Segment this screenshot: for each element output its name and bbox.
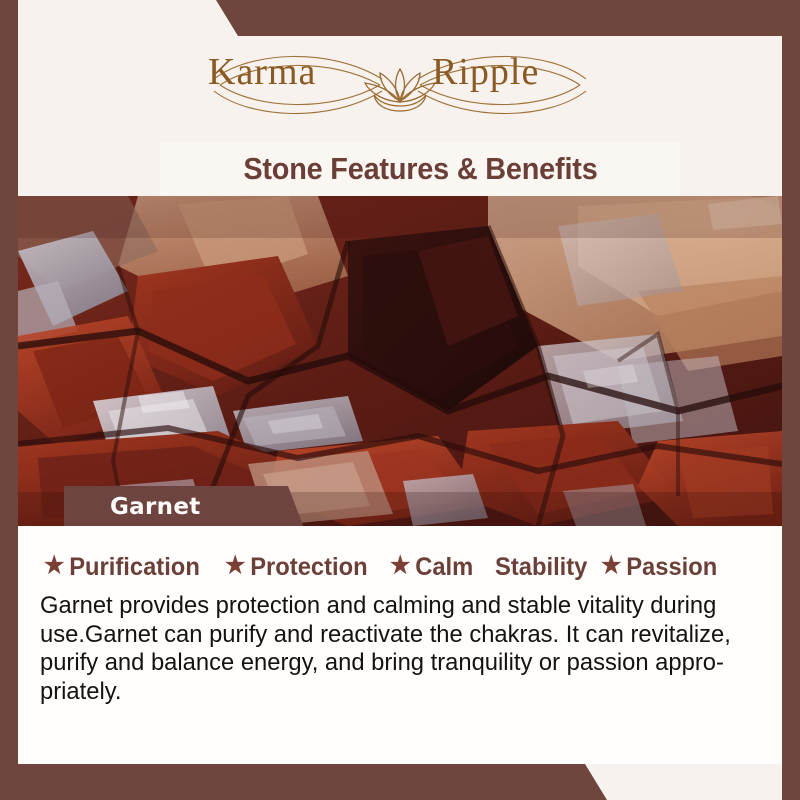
benefit-item-stability: Stability: [495, 553, 587, 582]
description-line: priately.: [40, 678, 744, 707]
brand-logo: Karma Ripple: [0, 30, 800, 140]
star-icon: ★: [601, 554, 621, 578]
star-icon: ★: [44, 554, 64, 578]
benefits-row: ★ Purification ★ Protection ★ Calm Stabi…: [44, 550, 764, 584]
brand-word-ripple: Ripple: [432, 53, 539, 91]
benefit-label: Passion: [626, 553, 717, 582]
benefit-item-calm: ★ Calm: [390, 553, 473, 582]
description-section: ★ Purification ★ Protection ★ Calm Stabi…: [18, 526, 782, 764]
benefit-label: Stability: [495, 553, 587, 582]
frame-bar-bottom: [0, 764, 800, 800]
description-line: purify and balance energy, and bring tra…: [40, 649, 744, 678]
description-paragraph: Garnet provides protection and calming a…: [40, 592, 744, 706]
star-icon: ★: [390, 554, 410, 578]
garnet-crystal-cluster-photo: Garnet: [18, 196, 782, 526]
benefit-label: Protection: [250, 553, 367, 582]
stone-name-text: Garnet: [110, 494, 201, 520]
page-title: Stone Features & Benefits: [243, 151, 597, 187]
section-title-banner: Stone Features & Benefits: [160, 142, 680, 196]
stone-name-label: Garnet: [64, 486, 304, 526]
star-icon: ★: [225, 554, 245, 578]
description-line: use.Garnet can purify and reactivate the…: [40, 621, 744, 650]
brand-word-karma: Karma: [208, 53, 316, 91]
benefit-label: Purification: [69, 553, 200, 582]
benefit-item-purification: ★ Purification: [44, 553, 200, 582]
benefit-item-passion: ★ Passion: [601, 553, 717, 582]
benefit-label: Calm: [415, 553, 473, 582]
description-line: Garnet provides protection and calming a…: [40, 592, 744, 621]
benefit-item-protection: ★ Protection: [225, 553, 368, 582]
